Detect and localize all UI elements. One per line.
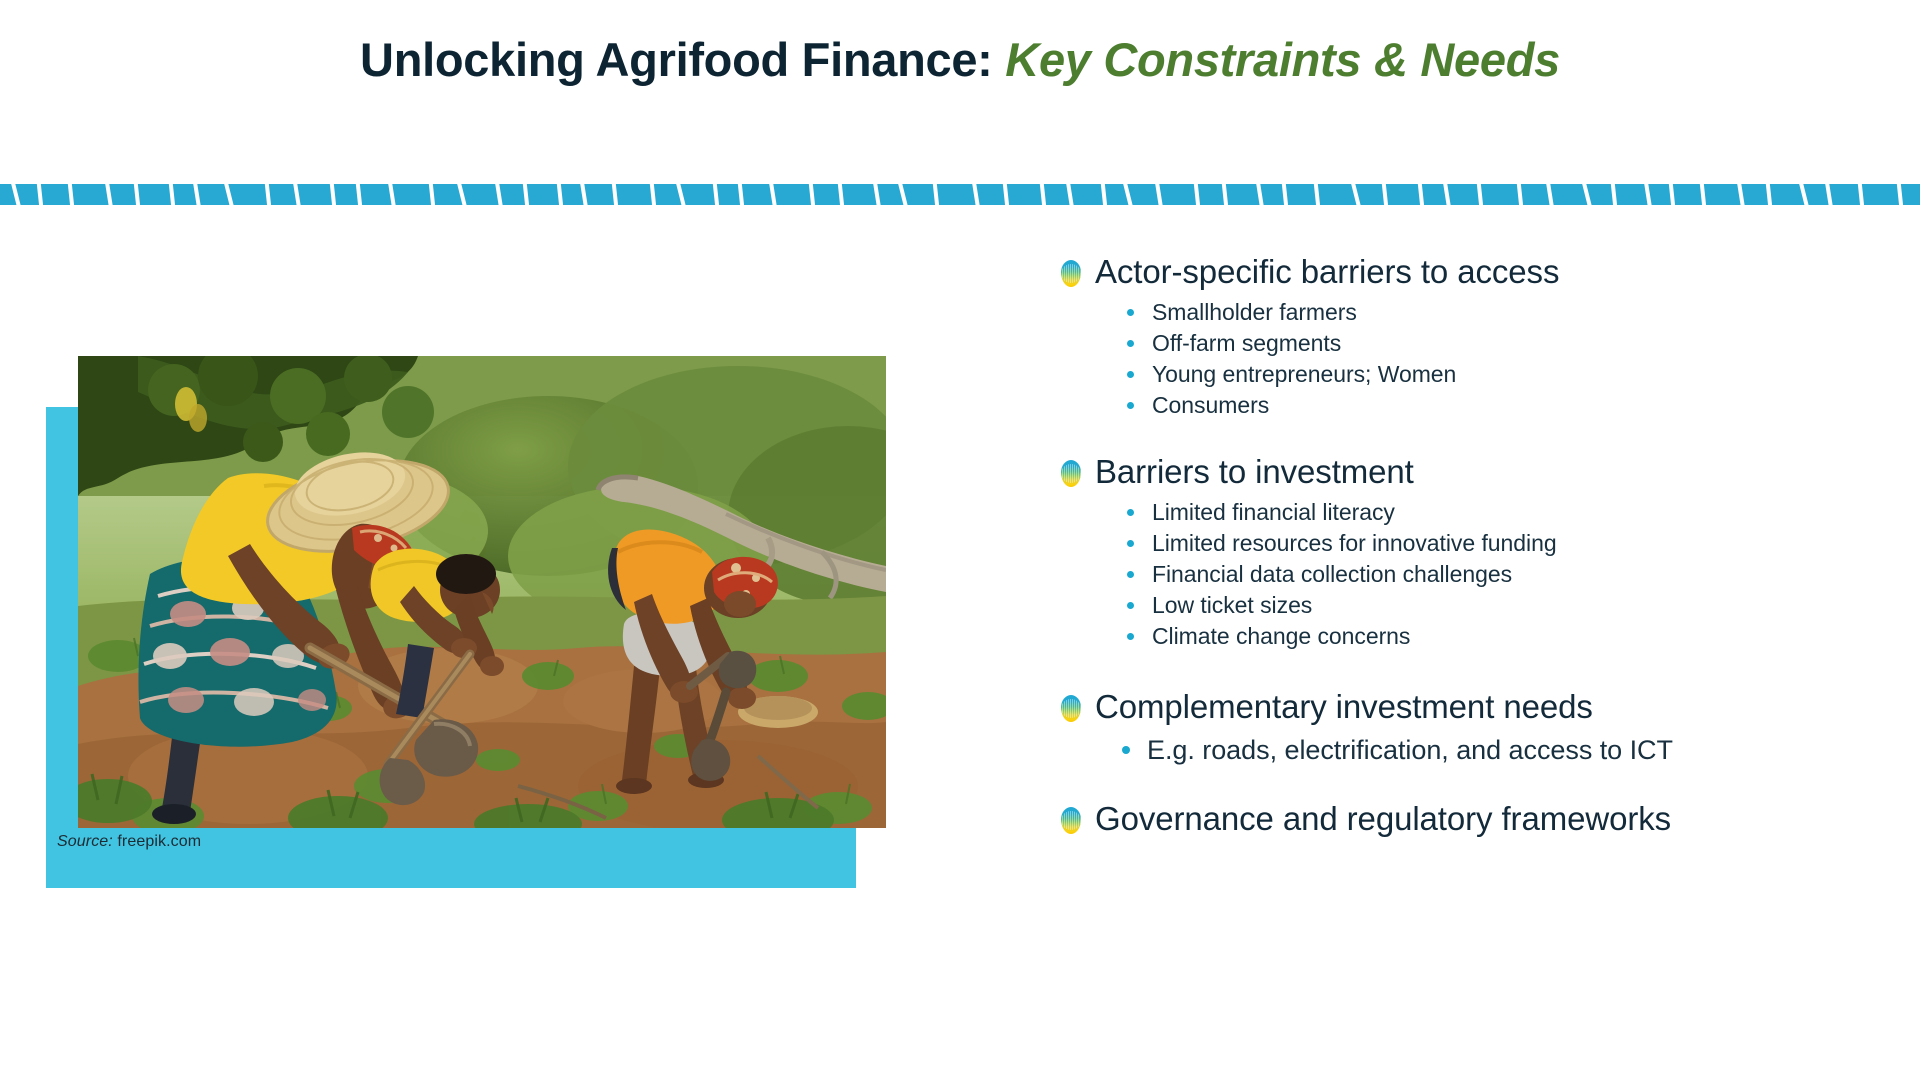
egg-stripes — [1061, 464, 1081, 483]
bullet-group-3: Complementary investment needsE.g. roads… — [1060, 687, 1880, 767]
divider-slash — [675, 184, 687, 205]
divider-slash — [1154, 184, 1163, 205]
sub-bullet-text: Climate change concerns — [1152, 622, 1410, 651]
sub-bullet-text: E.g. roads, electrification, and access … — [1147, 733, 1673, 767]
egg-gradient-icon — [1060, 807, 1082, 835]
divider-slash — [329, 184, 337, 205]
divider-slash — [1699, 184, 1707, 205]
sub-bullet-text: Low ticket sizes — [1152, 591, 1312, 620]
sub-bullet-text: Limited resources for innovative funding — [1152, 529, 1557, 558]
divider-slash — [10, 184, 22, 205]
sub-bullet-dot-icon — [1127, 402, 1134, 409]
bullet-group-4: Governance and regulatory frameworks — [1060, 799, 1880, 839]
divider-slash — [1002, 184, 1010, 205]
egg-stripes — [1061, 264, 1081, 283]
sub-bullet-row: Financial data collection challenges — [1127, 560, 1880, 589]
divider-slash — [897, 184, 909, 205]
sub-bullet-row: Smallholder farmers — [1127, 298, 1880, 327]
sub-bullet-row: Young entrepreneurs; Women — [1127, 360, 1880, 389]
divider-slash — [872, 184, 881, 205]
divider-slash — [1100, 184, 1108, 205]
title-main-text: Unlocking Agrifood Finance: — [360, 33, 992, 86]
bullet-heading-row: Actor-specific barriers to access — [1060, 252, 1880, 292]
bullet-heading-text: Barriers to investment — [1095, 452, 1414, 492]
egg-gradient-icon — [1060, 460, 1082, 488]
farmers-photo — [78, 356, 886, 828]
divider-slash — [1417, 184, 1425, 205]
divider-slash — [1350, 184, 1362, 205]
photo-source-caption: Source: freepik.com — [57, 833, 201, 851]
group-spacer — [1060, 422, 1880, 452]
divider-slash — [1736, 184, 1745, 205]
divider-slash — [292, 184, 301, 205]
sub-bullet-row: Consumers — [1127, 391, 1880, 420]
divider-slash — [456, 184, 468, 205]
sub-bullet-text: Young entrepreneurs; Women — [1152, 360, 1456, 389]
divider-slash — [611, 184, 619, 205]
divider-slash — [1896, 184, 1904, 205]
divider-slash — [1039, 184, 1047, 205]
divider-slash — [1581, 184, 1593, 205]
divider-slash — [971, 184, 980, 205]
sub-bullet-text: Financial data collection challenges — [1152, 560, 1512, 589]
divider-slash — [133, 184, 141, 205]
farmers-photo-illustration — [78, 356, 886, 828]
group-spacer — [1060, 653, 1880, 687]
sub-bullet-row: Climate change concerns — [1127, 622, 1880, 651]
slide-canvas: Unlocking Agrifood Finance: Key Constrai… — [0, 0, 1920, 1080]
divider-slash — [1281, 184, 1289, 205]
divider-slash — [1313, 184, 1321, 205]
sub-bullet-list: Limited financial literacyLimited resour… — [1060, 498, 1880, 651]
divider-slash — [1643, 184, 1652, 205]
divider-slash — [556, 184, 564, 205]
sub-bullet-dot-icon — [1127, 309, 1134, 316]
divider-slash — [768, 184, 777, 205]
sub-bullet-text: Consumers — [1152, 391, 1269, 420]
divider-slash — [1122, 184, 1134, 205]
divider-slash — [649, 184, 657, 205]
divider-slash — [387, 184, 396, 205]
divider-slash — [1765, 184, 1773, 205]
divider-slash — [1193, 184, 1201, 205]
sub-bullet-dot-icon — [1127, 571, 1134, 578]
bullet-group-1: Actor-specific barriers to accessSmallho… — [1060, 252, 1880, 420]
sub-bullet-dot-icon — [1127, 371, 1134, 378]
sub-bullet-dot-icon — [1127, 540, 1134, 547]
content-bullet-column: Actor-specific barriers to accessSmallho… — [1060, 252, 1880, 846]
sub-bullet-row: Limited resources for innovative funding — [1127, 529, 1880, 558]
bullet-heading-row: Barriers to investment — [1060, 452, 1880, 492]
sub-bullet-dot-icon — [1127, 633, 1134, 640]
divider-slash — [192, 184, 201, 205]
sub-bullet-row: Low ticket sizes — [1127, 591, 1880, 620]
divider-slash — [1221, 184, 1229, 205]
sub-bullet-dot-icon — [1127, 509, 1134, 516]
bullet-group-2: Barriers to investmentLimited financial … — [1060, 452, 1880, 651]
divider-slash — [579, 184, 588, 205]
divider-slash — [1545, 184, 1554, 205]
bullet-heading-row: Complementary investment needs — [1060, 687, 1880, 727]
divider-slash — [1381, 184, 1389, 205]
divider-slash — [223, 184, 235, 205]
divider-slash — [808, 184, 816, 205]
sub-bullet-text: Off-farm segments — [1152, 329, 1341, 358]
divider-slash — [168, 184, 176, 205]
divider-slash — [712, 184, 720, 205]
divider-slash — [1798, 184, 1810, 205]
bullet-heading-text: Complementary investment needs — [1095, 687, 1593, 727]
sub-bullet-text: Smallholder farmers — [1152, 298, 1357, 327]
divider-slash — [1442, 184, 1451, 205]
divider-slash — [494, 184, 503, 205]
divider-slash — [1255, 184, 1264, 205]
divider-slash — [737, 184, 745, 205]
divider-slash — [1065, 184, 1074, 205]
divider-slash — [932, 184, 940, 205]
divider-slash — [1857, 184, 1865, 205]
divider-slash — [104, 184, 113, 205]
divider-slash — [264, 184, 272, 205]
egg-gradient-icon — [1060, 260, 1082, 288]
sub-bullet-dot-icon — [1127, 602, 1134, 609]
bullet-heading-row: Governance and regulatory frameworks — [1060, 799, 1880, 839]
sub-bullet-text: Limited financial literacy — [1152, 498, 1395, 527]
page-title: Unlocking Agrifood Finance: Key Constrai… — [0, 34, 1920, 87]
divider-slash — [1476, 184, 1484, 205]
divider-slash — [67, 184, 75, 205]
divider-slash — [1668, 184, 1676, 205]
divider-slash — [355, 184, 363, 205]
source-value: freepik.com — [117, 833, 201, 850]
sub-bullet-list: Smallholder farmersOff-farm segmentsYoun… — [1060, 298, 1880, 420]
divider-slash — [1610, 184, 1618, 205]
divider-slash — [36, 184, 44, 205]
divider-slash — [428, 184, 436, 205]
bullet-heading-text: Governance and regulatory frameworks — [1095, 799, 1671, 839]
group-spacer — [1060, 769, 1880, 799]
egg-gradient-icon — [1060, 695, 1082, 723]
bullet-heading-text: Actor-specific barriers to access — [1095, 252, 1559, 292]
sub-bullet-list: E.g. roads, electrification, and access … — [1060, 733, 1880, 767]
divider-slash — [522, 184, 530, 205]
source-label: Source: — [57, 833, 113, 850]
sub-bullet-dot-icon — [1127, 340, 1134, 347]
decorative-divider-band — [0, 184, 1920, 205]
sub-bullet-row: E.g. roads, electrification, and access … — [1122, 733, 1880, 767]
divider-slash — [1824, 184, 1833, 205]
title-accent-text: Key Constraints & Needs — [1005, 33, 1560, 86]
slide-title-container: Unlocking Agrifood Finance: Key Constrai… — [0, 34, 1920, 87]
sub-bullet-dot-icon — [1122, 746, 1130, 754]
divider-slash — [837, 184, 845, 205]
divider-slash — [1516, 184, 1524, 205]
sub-bullet-row: Off-farm segments — [1127, 329, 1880, 358]
sub-bullet-row: Limited financial literacy — [1127, 498, 1880, 527]
